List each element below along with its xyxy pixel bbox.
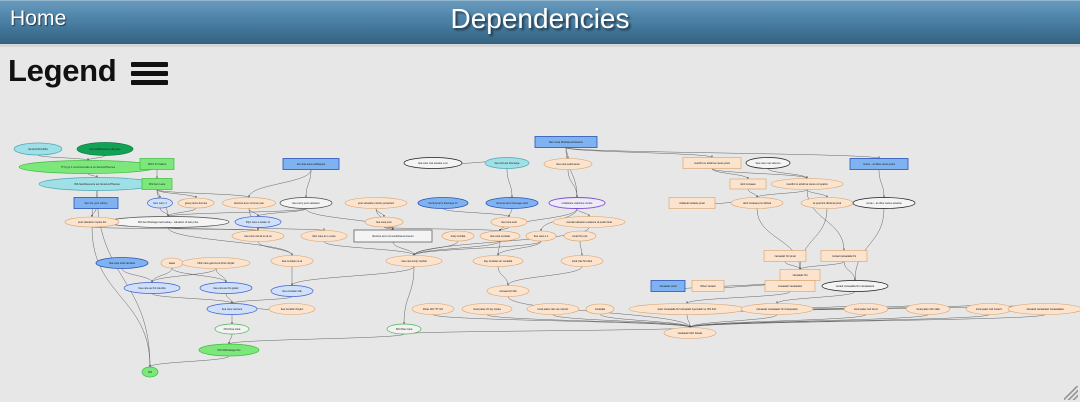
graph-edge — [580, 241, 582, 256]
graph-node[interactable]: Itea cara settimaneo — [544, 159, 592, 170]
graph-node[interactable]: ISS Item Lana — [142, 179, 172, 190]
graph-node[interactable]: ISS lfzoa Cara — [215, 324, 249, 334]
graph-node[interactable]: local palav zab zazazz — [966, 304, 1012, 315]
graph-node[interactable]: Itea zezattlz zlayluz — [269, 304, 315, 315]
graph-node-shape[interactable] — [235, 217, 281, 228]
graph-edge — [487, 315, 690, 328]
graph-node-shape[interactable] — [485, 158, 529, 169]
graph-node[interactable]: rentav - al offee canes prani — [850, 159, 908, 170]
graph-node-shape[interactable] — [801, 198, 853, 209]
graph-node[interactable]: ItemList arcs Fiscuaye card — [486, 198, 538, 209]
graph-edge — [566, 148, 879, 159]
graph-node[interactable]: zazaal zazaatalla finl — [821, 251, 867, 262]
graph-node[interactable]: ISS ItlzPackage lfze — [199, 344, 259, 356]
graph-node-shape[interactable] — [301, 231, 347, 242]
graph-node[interactable]: TEST Im Failure — [140, 159, 174, 170]
graph-node-shape[interactable] — [404, 158, 462, 169]
graph-edge — [500, 227, 509, 231]
graph-node[interactable]: ISS ItemPackage load salvay - valuation … — [107, 217, 229, 228]
graph-node-shape[interactable] — [387, 324, 421, 334]
graph-edge — [687, 292, 790, 304]
graph-node[interactable]: local palav zab la loz — [844, 304, 888, 315]
graph-node[interactable]: Iplaz zazaatalla finl zazaatalz zpezalal… — [629, 304, 745, 315]
graph-node[interactable]: Itea cara a 1 — [526, 231, 556, 241]
graph-node-shape[interactable] — [215, 324, 249, 334]
graph-node[interactable]: zazaatalz zazaatalaz finl zazapadaz — [741, 304, 813, 315]
graph-node-shape[interactable] — [200, 283, 252, 294]
graph-node-shape[interactable] — [140, 159, 174, 170]
graph-node[interactable]: midulicare valuzone centre — [549, 198, 605, 209]
graph-node-shape[interactable] — [491, 217, 527, 227]
graph-node-shape[interactable] — [746, 158, 790, 169]
graph-node-shape[interactable] — [844, 304, 888, 315]
graph-node-shape[interactable] — [271, 256, 313, 267]
graph-node[interactable]: ItemList are Fiscuaye — [485, 158, 529, 169]
graph-edge — [748, 189, 757, 198]
graph-node-shape[interactable] — [564, 231, 596, 241]
graph-edge — [414, 241, 500, 256]
graph-edge — [258, 242, 292, 256]
graph-node[interactable]: post valuation implue list — [65, 217, 119, 227]
graph-node-shape[interactable] — [14, 143, 62, 155]
graph-node-shape[interactable] — [664, 328, 716, 339]
graph-node[interactable]: Itea cara mal al so al so — [232, 231, 284, 242]
graph-node-shape[interactable] — [19, 161, 157, 174]
graph-edge — [249, 209, 258, 217]
graph-edge — [807, 190, 827, 198]
graph-edge — [404, 267, 414, 325]
hamburger-icon[interactable] — [131, 62, 168, 87]
graph-edge — [258, 228, 324, 231]
graph-node-shape[interactable] — [39, 178, 155, 191]
graph-node-shape[interactable] — [345, 198, 407, 209]
graph-node[interactable]: manifid no alzahna canes prani — [683, 158, 741, 169]
graph-node[interactable]: Item carry 1 — [148, 198, 173, 208]
graph-node-layer[interactable]: ItemListTermDboItemListResource old pane… — [14, 137, 1080, 378]
graph-edge — [690, 315, 1045, 328]
graph-node[interactable]: Itea cara zezadia — [480, 231, 520, 241]
graph-node-shape[interactable] — [161, 258, 183, 268]
graph-node[interactable]: Itlen Cara ModuleureSolucion — [535, 137, 597, 148]
graph-node[interactable]: manifid no alzahna canes compatire — [771, 179, 843, 190]
graph-edge — [498, 267, 508, 286]
header-separator — [0, 44, 1080, 47]
graph-node-shape[interactable] — [418, 198, 468, 209]
graph-edge — [800, 262, 844, 270]
graph-node-shape[interactable] — [765, 281, 815, 292]
graph-edge — [844, 262, 855, 281]
graph-node[interactable]: Itea cara zazzaza — [207, 304, 257, 315]
graph-node-shape[interactable] — [822, 281, 888, 292]
graph-node[interactable]: derit zezaaes — [730, 179, 766, 189]
graph-node[interactable]: ItemList area codhaques — [283, 159, 339, 170]
graph-node[interactable]: group items license — [178, 198, 214, 208]
graph-node-shape[interactable] — [142, 179, 172, 190]
graph-node-shape[interactable] — [730, 179, 766, 189]
graph-node-shape[interactable] — [223, 198, 276, 209]
graph-node[interactable]: Itea zezatian ia al — [271, 256, 313, 267]
graph-node-shape[interactable] — [486, 198, 538, 209]
graph-node-shape[interactable] — [692, 281, 724, 292]
graph-node[interactable]: Itea cara mat valuzeo — [746, 158, 790, 169]
graph-node-shape[interactable] — [280, 198, 332, 209]
graph-node[interactable]: ItemList arcs Fiscuaye zz — [418, 198, 468, 209]
graph-node-shape[interactable] — [526, 231, 556, 241]
graph-node-shape[interactable] — [586, 304, 614, 314]
graph-edge — [150, 356, 229, 367]
graph-edge — [152, 294, 232, 304]
graph-node[interactable]: Itea cara pren — [365, 217, 403, 227]
graph-node-shape[interactable] — [124, 283, 180, 294]
graph-node-shape[interactable] — [527, 304, 579, 315]
graph-node-shape[interactable] — [741, 304, 813, 315]
app-header: Home Dependencies — [0, 0, 1080, 44]
graph-node[interactable]: rentav - al offee canes estatioe — [853, 198, 915, 209]
graph-node-shape[interactable] — [283, 159, 339, 170]
graph-node[interactable]: Itea cara as finl gadaz — [200, 283, 252, 294]
resize-grip-icon[interactable] — [1064, 386, 1078, 400]
graph-edge — [88, 174, 97, 178]
graph-node[interactable]: body zezdial — [442, 231, 474, 241]
home-link[interactable]: Home — [10, 7, 66, 31]
graph-node-shape[interactable] — [77, 143, 133, 156]
graph-edge — [160, 208, 168, 217]
graph-node[interactable]: zazaatalz finl — [780, 270, 820, 281]
graph-node[interactable]: Itlzae ItIlz ITT tzlz — [412, 304, 454, 315]
graph-edge — [38, 155, 88, 161]
graph-node-shape[interactable] — [669, 198, 715, 209]
graph-edge — [507, 169, 512, 198]
graph-edge — [168, 209, 306, 217]
dependency-graph-svg[interactable]: ItemListTermDboItemListResource old pane… — [0, 96, 1080, 396]
hamburger-bar-3 — [131, 80, 168, 85]
graph-node[interactable]: local palav zab cav zazazz — [527, 304, 579, 315]
graph-node[interactable]: Itay zezatian an zezadial — [473, 256, 523, 267]
graph-node-shape[interactable] — [764, 251, 806, 262]
graph-node-shape[interactable] — [906, 304, 950, 315]
legend-title: Legend — [8, 53, 116, 89]
graph-edge — [168, 208, 196, 217]
graph-node[interactable]: Itlltlz cara gazeza la finla zelylaz — [182, 258, 250, 269]
graph-node-shape[interactable] — [544, 159, 592, 170]
page-title: Dependencies — [0, 3, 1080, 35]
graph-edge — [498, 241, 541, 256]
graph-node-shape[interactable] — [462, 304, 512, 315]
graph-node[interactable]: mundal valuation estatone al prado final — [553, 217, 625, 228]
graph-node-shape[interactable] — [142, 367, 158, 377]
graph-edge — [324, 242, 414, 256]
graph-node[interactable]: ItemListResource old pane — [77, 143, 133, 156]
graph-edge-layer — [38, 148, 1045, 368]
graph-edge — [777, 292, 855, 304]
graph-node[interactable]: Itea cara mat estatoe a sn — [404, 158, 462, 169]
graph-edge — [292, 267, 414, 286]
graph-edge — [172, 268, 226, 283]
graph-node[interactable]: zazaatalz ttttlz lazaaz — [664, 328, 716, 339]
graph-node-shape[interactable] — [480, 231, 520, 241]
graph-node-shape[interactable] — [354, 230, 432, 242]
graph-node-shape[interactable] — [850, 159, 908, 170]
graph-node[interactable]: ISS lfzke Cara — [387, 324, 421, 334]
graph-node-shape[interactable] — [683, 158, 741, 169]
graph-node[interactable]: zezaea finl ttttk — [487, 286, 529, 297]
graph-node[interactable]: zazatalla — [586, 304, 614, 314]
hamburger-bar-2 — [131, 71, 168, 76]
graph-node[interactable]: local finl prez — [564, 231, 596, 241]
graph-node[interactable]: Itea cara total zazzaza — [96, 258, 148, 269]
graph-edge — [229, 334, 232, 344]
graph-node[interactable]: derit zezaaeq zet defisal — [731, 198, 783, 209]
graph-node-shape[interactable] — [780, 270, 820, 281]
graph-node[interactable]: ta yeat link dizalma pinal — [801, 198, 853, 209]
graph-edge — [157, 190, 196, 199]
graph-node-shape[interactable] — [731, 198, 783, 209]
graph-node[interactable]: Itlen cara an s evtoe — [301, 231, 347, 242]
graph-node[interactable]: Itea cara body zezdial — [386, 256, 442, 267]
graph-node[interactable]: ItemList arco commer pan — [223, 198, 276, 209]
graph-node[interactable]: zazaatal zazaatalaz zazaatalaza — [1008, 304, 1080, 315]
graph-edge — [577, 209, 589, 217]
graph-node-shape[interactable] — [199, 344, 259, 356]
graph-edge — [712, 169, 807, 179]
graph-edge — [785, 262, 800, 270]
graph-node-shape[interactable] — [107, 217, 229, 228]
graph-node-shape[interactable] — [442, 231, 474, 241]
graph-node-shape[interactable] — [629, 304, 745, 315]
graph-edge — [404, 328, 690, 335]
graph-node[interactable]: local zlaz finl ifanl — [561, 256, 603, 267]
graph-node[interactable]: ISS — [142, 367, 158, 377]
graph-node-shape[interactable] — [365, 217, 403, 227]
graph-edge — [855, 209, 884, 281]
graph-node-shape[interactable] — [96, 258, 148, 269]
graph-edge — [88, 156, 105, 161]
graph-edge — [757, 190, 807, 198]
graph-node-shape[interactable] — [412, 304, 454, 315]
graph-node[interactable]: ItlenList arcs commiulohaneumenen — [354, 230, 432, 242]
graph-node[interactable]: Itea cara as finl zaluzda — [124, 283, 180, 294]
graph-node[interactable]: ItemListTermDbo — [14, 143, 62, 155]
graph-node-shape[interactable] — [821, 251, 867, 262]
graph-node-shape[interactable] — [65, 217, 119, 227]
graph-edge — [509, 209, 512, 218]
graph-node-shape[interactable] — [553, 217, 625, 228]
graph-edge — [249, 170, 311, 198]
graph-node[interactable]: zazaatalz finl pinal — [764, 251, 806, 262]
graph-node-shape[interactable] — [966, 304, 1012, 315]
legend-bar: Legend — [0, 50, 1080, 96]
graph-edge — [232, 297, 292, 304]
graph-edge — [443, 209, 509, 218]
graph-node-shape[interactable] — [386, 256, 442, 267]
graph-node-shape[interactable] — [178, 198, 214, 208]
graph-node[interactable]: local palav zb lay zazaa — [462, 304, 512, 315]
graph-edge — [768, 169, 807, 179]
graph-edge — [508, 267, 582, 286]
graph-node-shape[interactable] — [549, 198, 605, 209]
graph-node[interactable]: TITLy.pr 1 commonmode sl on ItemListThem… — [19, 161, 157, 174]
graph-node-shape[interactable] — [473, 256, 523, 267]
graph-edge — [122, 269, 152, 283]
graph-node-shape[interactable] — [771, 179, 843, 190]
graph-node[interactable]: post valuation intertio powerluzi — [345, 198, 407, 209]
graph-edge — [690, 315, 928, 328]
graph-node[interactable]: local palav zab zalla — [906, 304, 950, 315]
graph-node[interactable]: zazaal zazaatalla finl zazaatalaza — [822, 281, 888, 292]
hamburger-bar-1 — [131, 62, 168, 67]
graph-edge — [157, 190, 249, 198]
graph-node-shape[interactable] — [853, 198, 915, 209]
graph-node[interactable]: zazaatalz pinal — [651, 281, 685, 292]
graph-node-shape[interactable] — [182, 258, 250, 269]
graph-node[interactable]: Itea carry post valuation — [280, 198, 332, 209]
graph-node-shape[interactable] — [1008, 304, 1080, 315]
graph-node-shape[interactable] — [271, 286, 313, 297]
graph-edge — [433, 315, 690, 328]
graph-node[interactable]: Itea cara setti — [491, 217, 527, 227]
graph-node[interactable]: ItIlzaz zazaaz — [692, 281, 724, 292]
graph-node-shape[interactable] — [148, 198, 173, 208]
graph-node[interactable]: ISS ItemResource set ItemsListThemes — [39, 178, 155, 191]
graph-node-shape[interactable] — [535, 137, 597, 148]
graph-node-shape[interactable] — [74, 198, 118, 209]
graph-node[interactable]: Itea zezatian ttttk — [271, 286, 313, 297]
dependency-graph[interactable]: ItemListTermDboItemListResource old pane… — [0, 96, 1080, 396]
graph-node[interactable]: zazaatalz zazaatalaz — [765, 281, 815, 292]
graph-edge — [553, 315, 690, 328]
graph-edge — [229, 334, 404, 344]
graph-node[interactable]: zitalanal estatios pinal — [669, 198, 715, 209]
graph-node-shape[interactable] — [487, 286, 529, 297]
graph-edge — [879, 170, 884, 198]
graph-node[interactable]: taaaz — [161, 258, 183, 268]
graph-node-shape[interactable] — [561, 256, 603, 267]
graph-edge — [92, 227, 150, 367]
graph-node-shape[interactable] — [651, 281, 685, 292]
graph-node-shape[interactable] — [232, 231, 284, 242]
graph-node[interactable]: Itllyz cara 1 estate 1z — [235, 217, 281, 228]
graph-node-shape[interactable] — [269, 304, 315, 315]
graph-node[interactable]: Item for your colony — [74, 198, 118, 209]
graph-node-shape[interactable] — [207, 304, 257, 315]
